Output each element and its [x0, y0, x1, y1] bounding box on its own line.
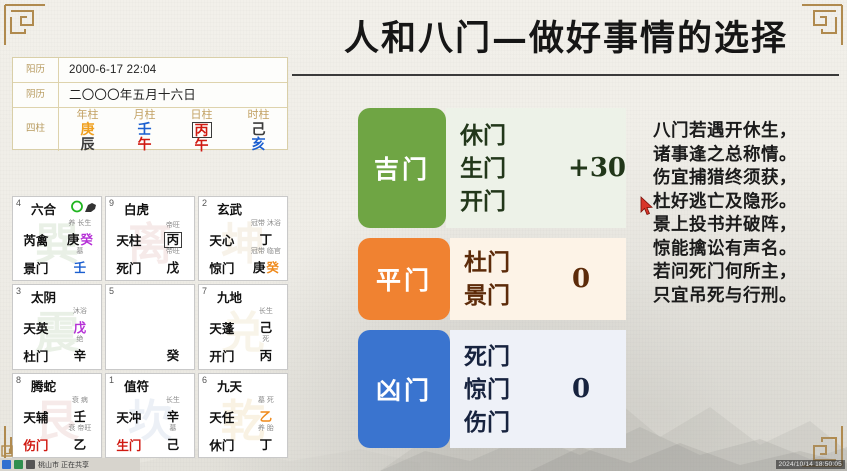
palace-door: 死门: [106, 258, 152, 277]
palace-twelve-stage-label: 冠带 临官: [245, 246, 287, 256]
palace-star: 天辅: [13, 407, 59, 426]
palace-door-row: 伤门衰 帝旺乙: [13, 430, 101, 454]
palace-cell-3[interactable]: 震3太阴天英沐浴戊杜门绝辛: [12, 284, 102, 369]
mic-icon: [14, 460, 23, 469]
slide-title: 人和八门—做好事情的选择: [292, 8, 840, 72]
pillar-heavenly-stem: 己: [230, 122, 287, 137]
calendar-row-four-pillars: 四柱 年柱庚辰月柱壬午日柱丙午时柱己亥: [13, 108, 287, 151]
palace-stem-cell: 衰 帝旺乙: [59, 434, 101, 454]
palace-door: 杜门: [13, 346, 59, 365]
palace-deity: 九地: [217, 287, 242, 306]
palace-deity: 九天: [217, 376, 242, 395]
palace-cell-6[interactable]: 乾6九天天任墓 死乙休门养 胎丁: [198, 373, 288, 458]
palace-stem-cell: 癸: [152, 345, 194, 365]
palace-door: 生门: [106, 435, 152, 454]
palace-star: 天蓬: [199, 318, 245, 337]
palace-twelve-stage-label: 长生: [245, 306, 287, 316]
door-group-chip-inauspicious: 凶门: [358, 330, 450, 448]
circle-horse-icon: [71, 200, 97, 218]
palace-twelve-stage-label: 帝旺: [152, 246, 194, 256]
door-item: 景门: [464, 279, 572, 312]
palace-stem: 丁: [260, 434, 273, 453]
calendar-value-lunar: 二〇〇〇年五月十六日: [59, 83, 287, 107]
palace-door: 惊门: [199, 258, 245, 277]
door-item: 死门: [464, 340, 572, 373]
palace-number: 9: [109, 198, 114, 208]
calendar-label-four-pillars: 四柱: [13, 108, 59, 151]
palace-door-row: 惊门冠带 临官庚癸: [199, 253, 287, 277]
door-item: 惊门: [464, 373, 572, 406]
palace-twelve-stage-label: 墓: [152, 423, 194, 433]
poem-line: 伤宜捕猎终须获，: [653, 167, 839, 191]
door-group-auspicious[interactable]: 吉门 休门 生门 开门 +30: [358, 108, 626, 228]
palace-door-row: 死门帝旺戊: [106, 253, 194, 277]
palace-door-row: 癸: [106, 341, 194, 365]
pillar-heavenly-stem: 丙: [173, 122, 230, 138]
palace-stem-cell: 死丙: [245, 345, 287, 365]
palace-door-row: 开门死丙: [199, 341, 287, 365]
pillar-earthly-branch: 亥: [230, 137, 287, 152]
palace-stem-cell: 冠带 临官庚癸: [245, 257, 287, 277]
palace-door: 伤门: [13, 435, 59, 454]
palace-stem: 丙: [260, 345, 273, 364]
calendar-row-lunar: 阴历 二〇〇〇年五月十六日: [13, 83, 287, 108]
palace-deity: 值符: [124, 376, 149, 395]
palace-number: 4: [16, 198, 21, 208]
palace-star: 天冲: [106, 407, 152, 426]
palace-twelve-stage-label: 墓: [59, 246, 101, 256]
door-group-body-inauspicious: 死门 惊门 伤门 0: [450, 330, 626, 448]
palace-stem-group: 壬: [74, 257, 87, 276]
palace-stem-group: 丙: [260, 345, 273, 364]
palace-number: 2: [202, 198, 207, 208]
pillar-stem-boxed: 丙: [192, 122, 212, 138]
screen-share-icon: [26, 460, 35, 469]
calendar-label-lunar: 阴历: [13, 83, 59, 107]
palace-star: 天任: [199, 407, 245, 426]
palace-twelve-stage-label: 衰 帝旺: [59, 423, 101, 433]
corner-ornament-icon: [3, 3, 47, 47]
calendar-row-solar: 阳历 2000-6-17 22:04: [13, 58, 287, 83]
nine-palace-grid: 巽4六合芮禽养 长生庚癸景门墓壬离9白虎天柱帝旺丙死门帝旺戊坤2玄武天心冠带 沐…: [12, 196, 288, 458]
door-score-inauspicious: 0: [572, 374, 590, 404]
palace-door-row: 杜门绝辛: [13, 341, 101, 365]
palace-twelve-stage-label: 沐浴: [59, 306, 101, 316]
palace-stem: 乙: [74, 434, 87, 453]
pillar-heading: 日柱: [173, 108, 230, 122]
palace-twelve-stage-label: 长生: [152, 395, 194, 405]
palace-door-row: 休门养 胎丁: [199, 430, 287, 454]
palace-stem: 癸: [266, 257, 279, 276]
palace-cell-8[interactable]: 艮8腾蛇天辅衰 病壬伤门衰 帝旺乙: [12, 373, 102, 458]
palace-twelve-stage-label: 绝: [59, 334, 101, 344]
palace-star: 天柱: [106, 230, 152, 249]
palace-door: 休门: [199, 435, 245, 454]
palace-stem-group: 庚癸: [253, 257, 279, 276]
poem-line: 景上投书并破阵，: [653, 214, 839, 238]
taskbar[interactable]: 桃山市 正在共享: [0, 458, 140, 471]
poem-line: 只宜吊死与行刑。: [653, 285, 839, 309]
door-score-neutral: 0: [572, 264, 590, 294]
palace-stem-group: 辛: [74, 345, 87, 364]
palace-twelve-stage-label: 冠带 沐浴: [245, 218, 287, 228]
poem-line: 诸事逢之总称情。: [653, 144, 839, 168]
palace-number: 5: [109, 286, 114, 296]
door-list-neutral: 杜门 景门: [464, 246, 572, 312]
palace-twelve-stage-label: 衰 病: [59, 395, 101, 405]
palace-cell-2[interactable]: 坤2玄武天心冠带 沐浴丁惊门冠带 临官庚癸: [198, 196, 288, 281]
door-score-auspicious: +30: [568, 153, 626, 183]
palace-number: 6: [202, 375, 207, 385]
palace-stem: 己: [167, 434, 180, 453]
palace-stem-cell: 绝辛: [59, 345, 101, 365]
door-item: 休门: [460, 119, 568, 152]
title-divider: [292, 74, 839, 76]
palace-door: 景门: [13, 258, 59, 277]
palace-deity: 玄武: [217, 199, 242, 218]
palace-cell-1[interactable]: 坎1值符天冲长生辛生门墓己: [105, 373, 195, 458]
door-item: 生门: [460, 152, 568, 185]
door-group-chip-neutral: 平门: [358, 238, 450, 320]
pillar-heavenly-stem: 壬: [116, 122, 173, 137]
calendar-value-solar: 2000-6-17 22:04: [59, 58, 287, 82]
palace-number: 7: [202, 286, 207, 296]
palace-deity: 六合: [31, 199, 56, 218]
slide-canvas: 人和八门—做好事情的选择 阳历 2000-6-17 22:04 阴历 二〇〇〇年…: [0, 0, 847, 471]
door-item: 开门: [460, 185, 568, 218]
palace-stem-group: 戊: [167, 257, 180, 276]
user-icon: [2, 460, 11, 469]
poem-line: 八门若遇开休生，: [653, 120, 839, 144]
palace-cell-9[interactable]: 离9白虎天柱帝旺丙死门帝旺戊: [105, 196, 195, 281]
calendar-panel: 阳历 2000-6-17 22:04 阴历 二〇〇〇年五月十六日 四柱 年柱庚辰…: [12, 57, 288, 150]
door-group-chip-auspicious: 吉门: [358, 108, 446, 228]
palace-door: 开门: [199, 346, 245, 365]
poem-block: 八门若遇开休生，诸事逢之总称情。伤宜捕猎终须获，杜好逃亡及隐形。景上投书并破阵，…: [653, 120, 839, 308]
palace-twelve-stage-label: 帝旺: [152, 220, 194, 230]
palace-cell-7[interactable]: 兑7九地天蓬长生己开门死丙: [198, 284, 288, 369]
palace-stem-group: 己: [167, 434, 180, 453]
palace-twelve-stage-label: 墓 死: [245, 395, 287, 405]
palace-twelve-stage-label: 死: [245, 334, 287, 344]
pillar-heavenly-stem: 庚: [59, 122, 116, 137]
pillar-earthly-branch: 辰: [59, 137, 116, 152]
poem-line: 若问死门何所主，: [653, 261, 839, 285]
palace-stem: 癸: [167, 349, 180, 363]
door-item: 伤门: [464, 406, 572, 439]
pillar-3: 时柱己亥: [230, 108, 287, 151]
pillar-heading: 年柱: [59, 108, 116, 122]
poem-line: 杜好逃亡及隐形。: [653, 191, 839, 215]
door-group-body-auspicious: 休门 生门 开门 +30: [446, 108, 626, 228]
palace-number: 1: [109, 375, 114, 385]
palace-cell-5[interactable]: 5癸: [105, 284, 195, 369]
door-group-neutral[interactable]: 平门 杜门 景门 0: [358, 238, 626, 320]
door-item: 杜门: [464, 246, 572, 279]
palace-stem-cell: 帝旺戊: [152, 257, 194, 277]
calendar-label-solar: 阳历: [13, 58, 59, 82]
door-list-auspicious: 休门 生门 开门: [460, 119, 568, 218]
palace-stem: 戊: [167, 257, 180, 276]
taskbar-status-text: 桃山市 正在共享: [38, 460, 89, 470]
palace-star: 天英: [13, 318, 59, 337]
pillar-earthly-branch: 午: [173, 138, 230, 153]
palace-stem-cell: 墓己: [152, 434, 194, 454]
door-list-inauspicious: 死门 惊门 伤门: [464, 340, 572, 439]
pillar-0: 年柱庚辰: [59, 108, 116, 151]
palace-twelve-stage-label: 养 胎: [245, 423, 287, 433]
palace-door-row: 生门墓己: [106, 430, 194, 454]
palace-stem: 辛: [74, 345, 87, 364]
page-title: 人和八门—做好事情的选择: [292, 8, 840, 70]
palace-number: 3: [16, 286, 21, 296]
palace-deity: 腾蛇: [31, 376, 56, 395]
palace-stem: 壬: [74, 257, 87, 276]
window-restore-icon[interactable]: [1, 445, 13, 457]
palace-deity: 白虎: [124, 199, 149, 218]
palace-stem-group: 丁: [260, 434, 273, 453]
palace-star: 天心: [199, 230, 245, 249]
pillar-earthly-branch: 午: [116, 137, 173, 152]
four-pillars-grid: 年柱庚辰月柱壬午日柱丙午时柱己亥: [59, 108, 287, 151]
pillar-1: 月柱壬午: [116, 108, 173, 151]
palace-stem-cell: 墓壬: [59, 257, 101, 277]
palace-stem-cell: 养 胎丁: [245, 434, 287, 454]
palace-stem: 庚: [253, 257, 266, 276]
palace-door-row: 景门墓壬: [13, 253, 101, 277]
palace-stem-group: 乙: [74, 434, 87, 453]
pillar-2: 日柱丙午: [173, 108, 230, 151]
door-group-body-neutral: 杜门 景门 0: [450, 238, 626, 320]
palace-number: 8: [16, 375, 21, 385]
pillar-heading: 月柱: [116, 108, 173, 122]
palace-deity: 太阴: [31, 287, 56, 306]
recording-timestamp: 2024/10/14 18:50:05: [776, 460, 845, 469]
pillar-heading: 时柱: [230, 108, 287, 122]
palace-star: 芮禽: [13, 230, 59, 249]
door-group-inauspicious[interactable]: 凶门 死门 惊门 伤门 0: [358, 330, 626, 448]
palace-twelve-stage-label: 养 长生: [59, 218, 101, 228]
palace-cell-4[interactable]: 巽4六合芮禽养 长生庚癸景门墓壬: [12, 196, 102, 281]
mouse-cursor-icon: [640, 196, 654, 216]
poem-line: 惊能擒讼有声名。: [653, 238, 839, 262]
